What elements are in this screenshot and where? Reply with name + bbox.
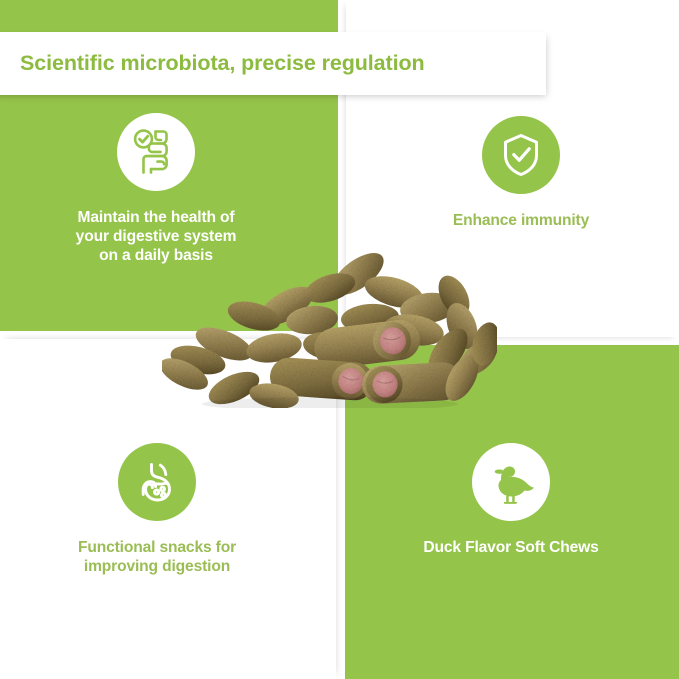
page-title: Scientific microbiota, precise regulatio… [20,51,425,76]
label-line: Enhance immunity [453,212,589,229]
label-line: improving digestion [84,558,230,575]
feature-digestive-health: Maintain the health of your digestive sy… [16,113,296,265]
product-photo-soft-chews [162,248,497,408]
label-line: Maintain the health of [78,209,235,226]
label-line: Functional snacks for [78,539,236,556]
feature-label-functional-snacks: Functional snacks for improving digestio… [17,538,297,576]
infographic-canvas: Scientific microbiota, precise regulatio… [0,0,679,679]
feature-functional-snacks: Functional snacks for improving digestio… [17,443,297,576]
duck-icon [472,443,550,521]
feature-label-duck-flavor: Duck Flavor Soft Chews [371,538,651,557]
stomach-icon [118,443,196,521]
feature-immunity: Enhance immunity [381,116,661,230]
shield-check-icon [482,116,560,194]
label-line: Duck Flavor Soft Chews [423,539,598,556]
intestine-check-icon [117,113,195,191]
feature-label-immunity: Enhance immunity [381,211,661,230]
feature-duck-flavor: Duck Flavor Soft Chews [371,443,651,557]
headline-card: Scientific microbiota, precise regulatio… [0,32,546,95]
label-line: your digestive system [76,228,237,245]
